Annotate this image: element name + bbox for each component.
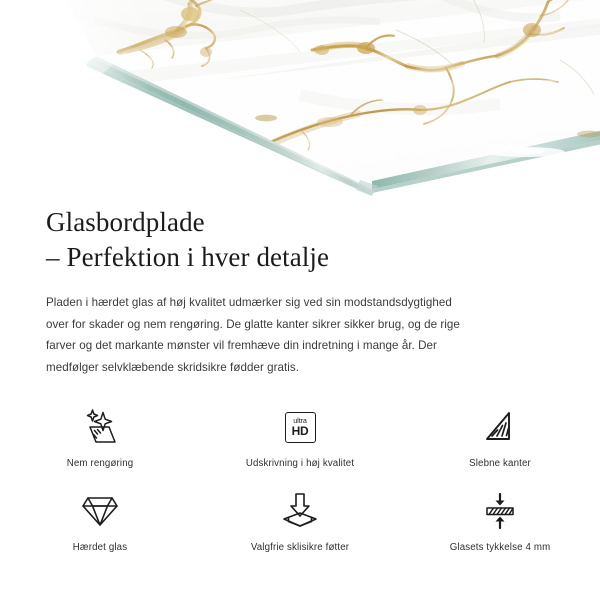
headline-line-1: Glasbordplade [46, 207, 205, 237]
feature-item-antislip-feet: Valgfrie sklisikre føtter [200, 484, 400, 568]
hatched-triangle-edge-icon [481, 406, 519, 448]
description-paragraph: Pladen i hærdet glas af høj kvalitet udm… [0, 275, 520, 378]
feature-label: Udskrivning i høj kvalitet [246, 458, 354, 470]
feature-item-high-quality-print: ultra HD Udskrivning i høj kvalitet [200, 400, 400, 484]
ultra-hd-badge-bottom: HD [292, 425, 309, 438]
feature-item-easy-cleaning: Nem rengøring [0, 400, 200, 484]
ultra-hd-icon: ultra HD [285, 406, 316, 448]
page-title: Glasbordplade – Perfektion i hver detalj… [0, 196, 600, 275]
feature-grid: Nem rengøring ultra HD Udskrivning i høj… [0, 400, 600, 568]
content-block: Glasbordplade – Perfektion i hver detalj… [0, 196, 600, 378]
sparkle-plate-icon [79, 406, 121, 448]
arrow-onto-pad-icon [280, 490, 320, 532]
diamond-icon [80, 490, 120, 532]
product-description-page: Glasbordplade – Perfektion i hver detalj… [0, 0, 600, 600]
thickness-arrows-icon [480, 490, 520, 532]
feature-label: Glasets tykkelse 4 mm [450, 542, 551, 554]
feature-label: Hærdet glas [73, 542, 127, 554]
feature-label: Valgfrie sklisikre føtter [251, 542, 349, 554]
glass-tabletop-marble-photo [0, 0, 600, 196]
feature-item-tempered-glass: Hærdet glas [0, 484, 200, 568]
ultra-hd-badge: ultra HD [285, 412, 316, 443]
feature-item-polished-edges: Slebne kanter [400, 400, 600, 484]
feature-label: Slebne kanter [469, 458, 531, 470]
hero-image [0, 0, 600, 196]
feature-label: Nem rengøring [67, 458, 134, 470]
headline-line-2: – Perfektion i hver detalje [46, 240, 554, 275]
feature-item-glass-thickness: Glasets tykkelse 4 mm [400, 484, 600, 568]
